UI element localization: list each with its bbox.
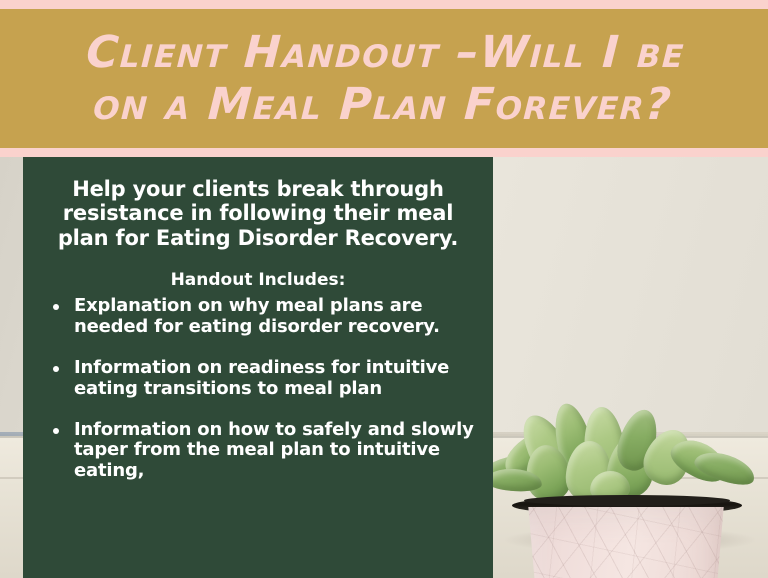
bullet-dot-icon bbox=[53, 304, 59, 310]
flower-pot bbox=[515, 507, 737, 578]
list-item: Information on readiness for intuitive e… bbox=[39, 358, 477, 400]
list-item-label: Explanation on why meal plans are needed… bbox=[74, 295, 440, 337]
list-item-label: Information on readiness for intuitive e… bbox=[74, 357, 449, 399]
list-item: Explanation on why meal plans are needed… bbox=[39, 296, 477, 338]
header-underline-band bbox=[0, 148, 768, 157]
pot-rim-inner bbox=[524, 495, 730, 506]
bullet-dot-icon bbox=[53, 366, 59, 372]
intro-paragraph: Help your clients break through resistan… bbox=[41, 177, 475, 250]
handout-features-list: Explanation on why meal plans are needed… bbox=[39, 296, 477, 482]
promo-poster: Client Handout –Will I be on a Meal Plan… bbox=[0, 0, 768, 578]
content-panel: Help your clients break through resistan… bbox=[23, 157, 493, 578]
page-title: Client Handout –Will I be on a Meal Plan… bbox=[60, 27, 708, 131]
top-accent-band bbox=[0, 0, 768, 9]
bullet-dot-icon bbox=[53, 428, 59, 434]
list-item: Information on how to safely and slowly … bbox=[39, 420, 477, 483]
list-item-label: Information on how to safely and slowly … bbox=[74, 419, 474, 482]
includes-heading: Handout Includes: bbox=[39, 270, 477, 290]
pot-crackle-texture bbox=[515, 507, 737, 578]
header-banner: Client Handout –Will I be on a Meal Plan… bbox=[0, 9, 768, 148]
